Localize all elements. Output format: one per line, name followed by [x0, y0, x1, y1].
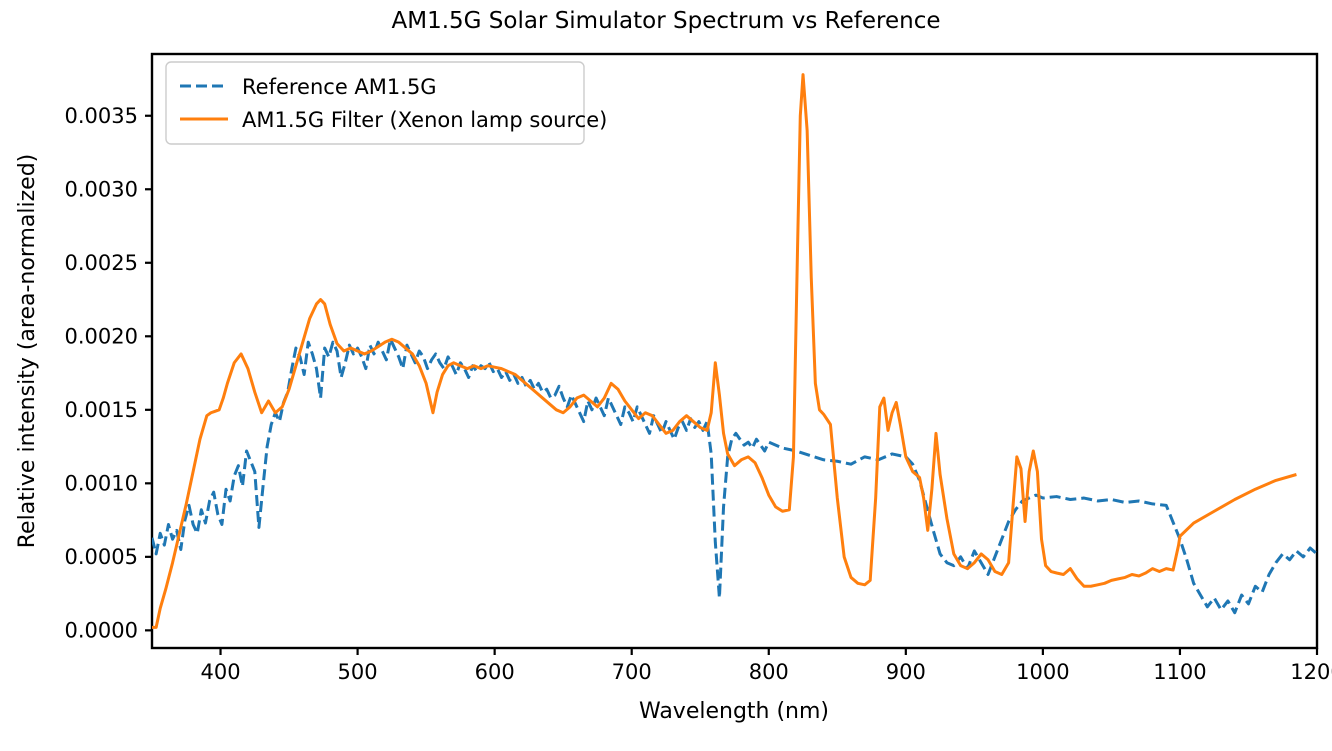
x-tick-label: 1000	[1016, 660, 1069, 684]
y-tick-label: 0.0005	[65, 545, 138, 569]
y-axis-ticks: 0.00000.00050.00100.00150.00200.00250.00…	[65, 104, 152, 643]
chart-figure: AM1.5G Solar Simulator Spectrum vs Refer…	[0, 0, 1332, 751]
plot-canvas: 400500600700800900100011001200 0.00000.0…	[0, 0, 1332, 751]
y-tick-label: 0.0030	[65, 177, 138, 201]
x-axis-label: Wavelength (nm)	[639, 699, 829, 724]
y-tick-label: 0.0015	[65, 398, 138, 422]
legend-label-1: Reference AM1.5G	[242, 75, 437, 99]
y-tick-label: 0.0025	[65, 251, 138, 275]
x-tick-label: 700	[612, 660, 652, 684]
y-tick-label: 0.0010	[65, 471, 138, 495]
y-axis-label: Relative intensity (area-normalized)	[15, 154, 40, 549]
x-tick-label: 900	[886, 660, 926, 684]
x-tick-label: 600	[475, 660, 515, 684]
y-tick-label: 0.0035	[65, 104, 138, 128]
y-tick-label: 0.0020	[65, 324, 138, 348]
x-tick-label: 500	[338, 660, 378, 684]
x-tick-label: 800	[749, 660, 789, 684]
x-tick-label: 1200	[1290, 660, 1332, 684]
x-tick-label: 400	[200, 660, 240, 684]
x-axis-ticks: 400500600700800900100011001200	[200, 648, 1332, 684]
x-tick-label: 1100	[1153, 660, 1206, 684]
y-tick-label: 0.0000	[65, 618, 138, 642]
chart-legend: Reference AM1.5GAM1.5G Filter (Xenon lam…	[166, 62, 607, 144]
legend-label-2: AM1.5G Filter (Xenon lamp source)	[242, 108, 607, 132]
